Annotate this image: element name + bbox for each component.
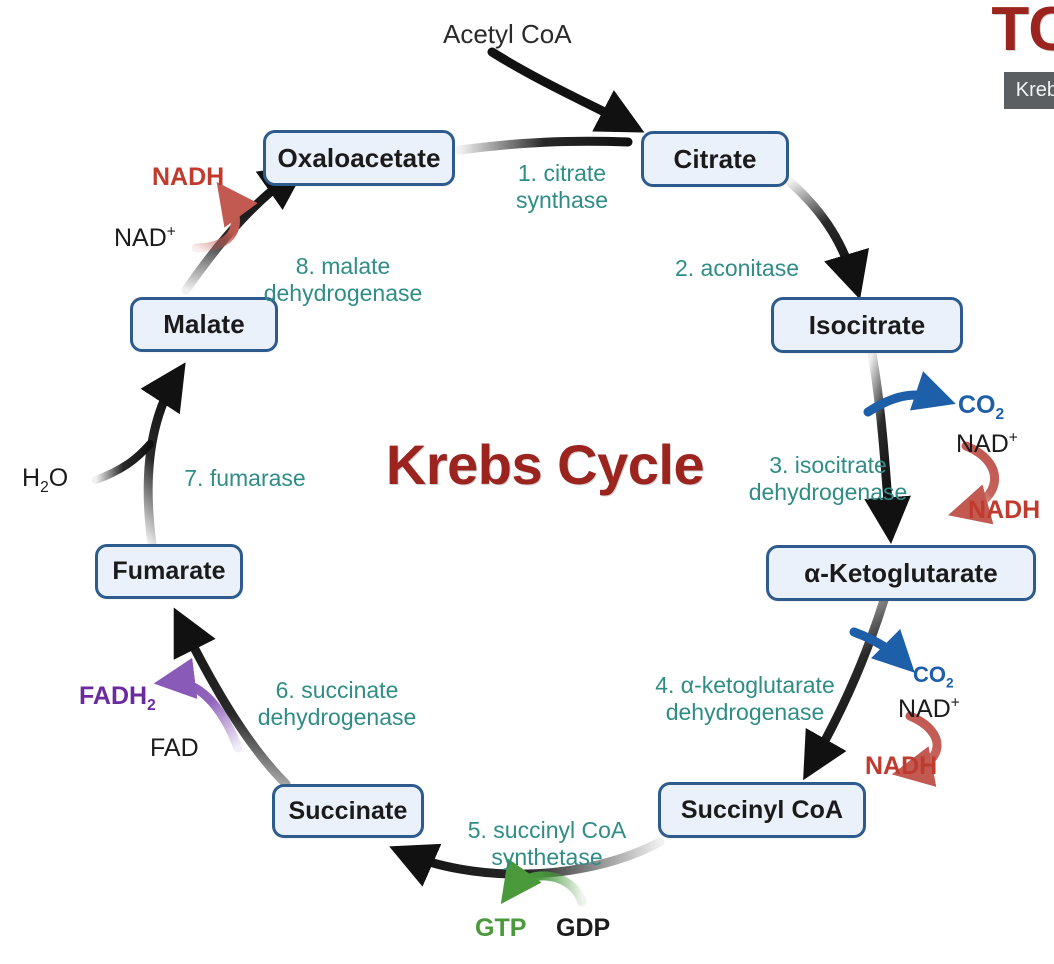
cofactor-subscript: 2 [147,697,156,714]
enzyme-text: 5. succinyl CoA synthetase [468,817,627,870]
metabolite-label: Isocitrate [809,310,926,341]
metabolite-succinate[interactable]: Succinate [272,784,424,838]
cofactor-gtp: GTP [475,914,526,942]
enzyme-label-succinate-dehydrogenase: 6. succinate dehydrogenase [237,650,437,731]
enzyme-label-alpha-ketoglutarate-dehydrogenase: 4. α-ketoglutarate dehydrogenase [631,645,859,726]
cofactor-subscript: 2 [946,675,954,690]
metabolite-fumarate[interactable]: Fumarate [95,544,243,599]
cofactor-subscript: 2 [40,479,49,496]
cofactor-text: NAD [898,695,951,723]
cofactor-superscript: + [1009,430,1018,447]
cofactor-text: H [22,464,40,492]
cofactor-text: NADH [865,752,937,780]
metabolite-label: Fumarate [112,557,225,586]
enzyme-text: 1. citrate synthase [516,160,608,213]
enzyme-label-aconitase: 2. aconitase [652,228,822,282]
metabolite-oxaloacetate[interactable]: Oxaloacetate [263,130,455,186]
cofactor-fadh2: FADH2 [79,682,156,710]
center-title-text: Krebs Cycle [386,433,704,496]
cofactor-gdp: GDP [556,914,610,942]
cofactor-text: FADH [79,682,147,710]
metabolite-alpha-ketoglutarate[interactable]: α-Ketoglutarate [766,545,1036,601]
metabolite-label: Succinyl CoA [681,796,843,825]
diagram-center-title: Krebs Cycle [355,432,735,497]
cofactor-superscript: + [951,695,960,712]
krebs-cycle-diagram: Oxaloacetate Citrate Isocitrate α-Ketogl… [0,0,1054,964]
cofactor-text: NADH [968,496,1040,524]
cofactor-nadh-step8: NADH [152,163,224,191]
cofactor-text: FAD [150,734,199,762]
enzyme-text: 6. succinate dehydrogenase [258,677,417,730]
metabolite-citrate[interactable]: Citrate [641,131,789,187]
arrow-h2o-to-fumarase [96,444,150,480]
enzyme-text: 3. isocitrate dehydrogenase [749,452,908,505]
cofactor-nadh-step4: NADH [865,752,937,780]
arrow-step5-gdp-to-gtp [508,876,582,902]
cofactor-co2-step3: CO2 [958,391,1004,419]
metabolite-label: α-Ketoglutarate [804,558,998,589]
corner-logo-text: TC [991,0,1054,64]
enzyme-text: 2. aconitase [675,255,799,281]
enzyme-label-malate-dehydrogenase: 8. malate dehydrogenase [245,226,441,307]
cofactor-superscript: + [167,224,176,241]
cofactor-text: NADH [152,163,224,191]
cofactor-acetyl-coa: Acetyl CoA [443,20,572,48]
metabolite-label: Oxaloacetate [277,143,440,174]
enzyme-label-citrate-synthase: 1. citrate synthase [492,133,632,214]
cofactor-h2o: H2O [22,464,68,492]
cofactor-nad-step8: NAD+ [114,224,176,252]
cofactor-text: Acetyl CoA [443,19,572,49]
metabolite-label: Succinate [288,797,407,826]
cofactor-text: CO [913,662,946,687]
cofactor-fad: FAD [150,734,199,762]
enzyme-label-succinyl-coa-synthetase: 5. succinyl CoA synthetase [442,790,652,871]
cofactor-text-tail: O [49,464,68,492]
arrow-step8-nad-to-nadh [196,192,235,248]
cofactor-nadh-step3: NADH [968,496,1040,524]
cofactor-text: CO [958,391,996,419]
enzyme-label-fumarase: 7. fumarase [165,438,325,492]
enzyme-text: 4. α-ketoglutarate dehydrogenase [655,672,835,725]
metabolite-isocitrate[interactable]: Isocitrate [771,297,963,353]
cofactor-text: GDP [556,914,610,942]
metabolite-label: Citrate [673,144,756,175]
cofactor-text: NAD [956,430,1009,458]
arrow-acetylcoa-to-citrate [492,52,632,126]
cofactor-subscript: 2 [996,406,1005,423]
corner-logo-watermark: TC [991,0,1054,65]
cofactor-co2-step4: CO2 [913,661,954,689]
enzyme-text: 8. malate dehydrogenase [264,253,423,306]
metabolite-label: Malate [163,309,245,340]
cofactor-nad-step4: NAD+ [898,695,960,723]
corner-tooltip: Krebs [1004,72,1054,109]
cofactor-nad-step3: NAD+ [956,430,1018,458]
cofactor-text: GTP [475,914,526,942]
cofactor-text: NAD [114,224,167,252]
corner-tooltip-text: Krebs [1016,79,1054,101]
enzyme-label-isocitrate-dehydrogenase: 3. isocitrate dehydrogenase [733,425,923,506]
enzyme-text: 7. fumarase [184,465,305,491]
metabolite-succinyl-coa[interactable]: Succinyl CoA [658,782,866,838]
